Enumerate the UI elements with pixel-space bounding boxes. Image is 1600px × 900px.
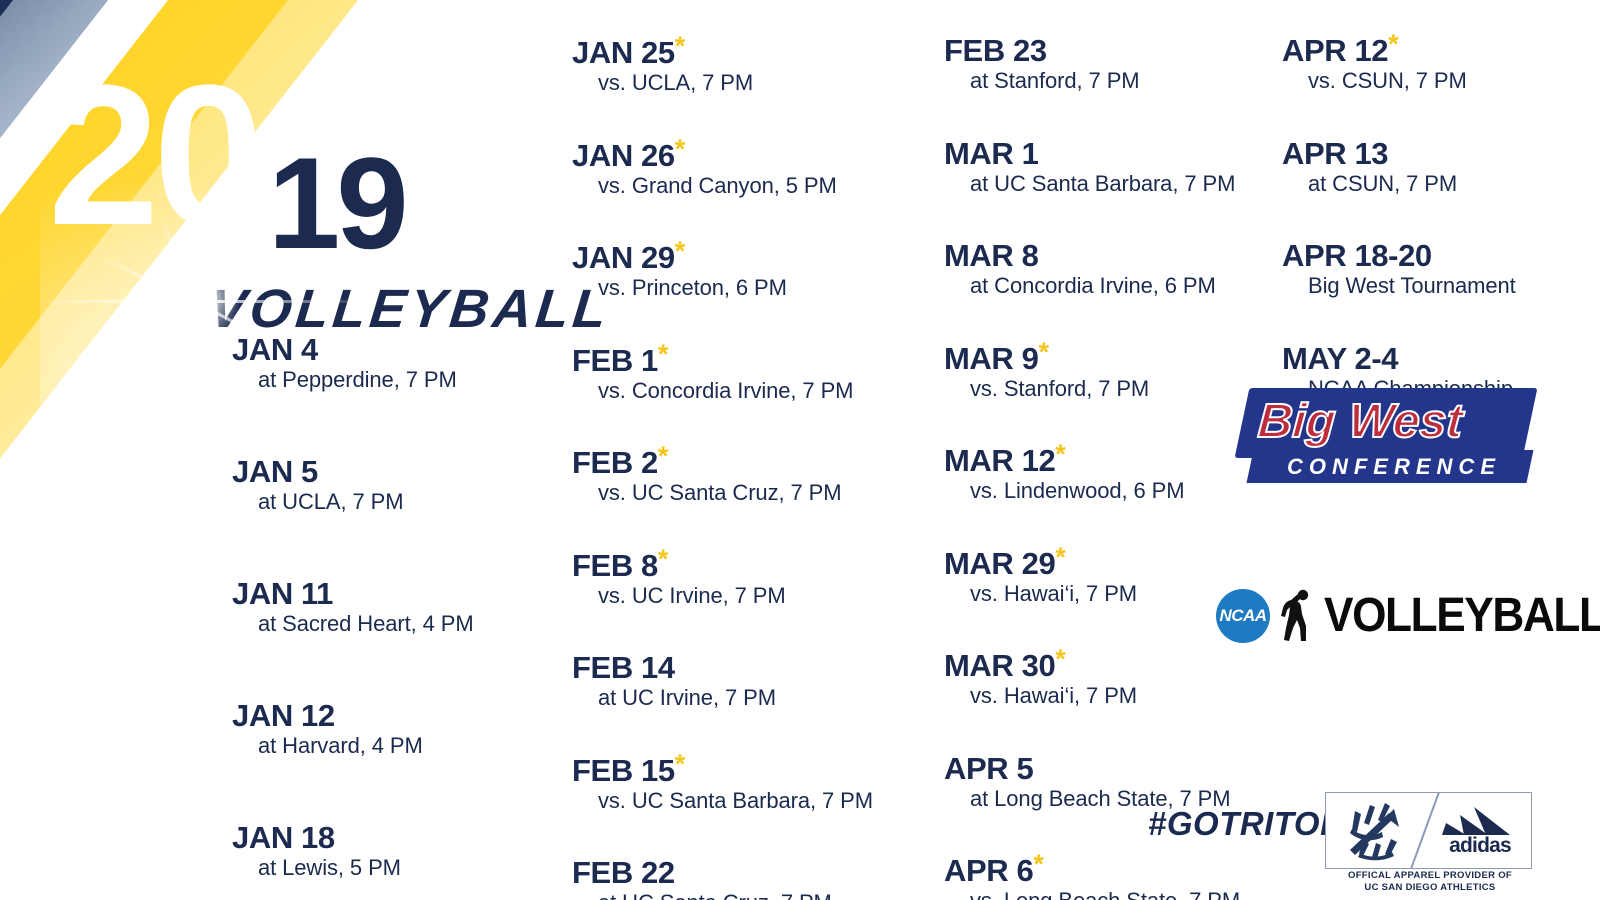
game-opponent: vs. Hawai‘i, 7 PM [944,581,1240,607]
year-light-text: 20 [48,56,258,256]
game-opponent: at UC Santa Barbara, 7 PM [944,171,1240,197]
game-date-text: FEB 1 [572,343,658,378]
game-date: JAN 26* [572,139,873,173]
game-date: FEB 1* [572,344,873,378]
schedule-entry: MAR 12*vs. Lindenwood, 6 PM [944,444,1240,504]
game-opponent: vs. Stanford, 7 PM [944,376,1240,402]
game-date: JAN 18 [232,821,495,855]
game-date-text: FEB 22 [572,855,675,890]
schedule-entry: MAR 1at UC Santa Barbara, 7 PM [944,137,1240,197]
big-west-logo-sub-text: CONFERENCE [1264,451,1524,483]
conference-game-asterisk-icon: * [675,133,685,163]
game-date: FEB 2* [572,446,873,480]
schedule-entry: MAR 8at Concordia Irvine, 6 PM [944,239,1240,299]
game-date: APR 13 [1282,137,1516,171]
game-opponent: Big West Tournament [1282,273,1516,299]
schedule-entry: APR 13at CSUN, 7 PM [1282,137,1516,197]
schedule-entry: MAR 9*vs. Stanford, 7 PM [944,342,1240,402]
game-date-text: JAN 12 [232,698,335,733]
game-opponent: at UCLA, 7 PM [232,489,495,515]
game-date: APR 5 [944,752,1240,786]
conference-game-asterisk-icon: * [1033,849,1043,879]
schedule-entry: APR 5at Long Beach State, 7 PM [944,752,1240,812]
game-date: MAY 2-4 [1282,342,1516,376]
big-west-conference-logo: Big West CONFERENCE [1242,388,1530,488]
schedule-entry: APR 18-20Big West Tournament [1282,239,1516,299]
schedule-entry: MAR 30*vs. Hawai‘i, 7 PM [944,649,1240,709]
game-opponent: vs. Long Beach State, 7 PM [944,888,1240,900]
game-date-text: JAN 18 [232,820,335,855]
schedule-entry: JAN 26*vs. Grand Canyon, 5 PM [572,139,873,199]
game-date: FEB 23 [944,34,1240,68]
adidas-wordmark: adidas [1436,835,1524,857]
adidas-three-bars-icon [1438,803,1518,837]
game-date: MAR 1 [944,137,1240,171]
schedule-entry: FEB 8*vs. UC Irvine, 7 PM [572,549,873,609]
game-date: JAN 5 [232,455,495,489]
schedule-entry: APR 12*vs. CSUN, 7 PM [1282,34,1516,94]
big-west-logo-main-text: Big West [1256,394,1530,450]
game-date: JAN 29* [572,241,873,275]
schedule-poster: 20 19 VOLLEYBALL JAN 4at Pepperdine, 7 P… [0,0,1600,900]
adidas-partner-logo: adidas [1325,792,1532,869]
uc-san-diego-trident-icon [1342,801,1408,861]
schedule-entry: FEB 15*vs. UC Santa Barbara, 7 PM [572,754,873,814]
game-date: APR 18-20 [1282,239,1516,273]
schedule-entry: FEB 23at Stanford, 7 PM [944,34,1240,94]
game-date-text: MAR 1 [944,136,1038,171]
schedule-entry: JAN 25*vs. UCLA, 7 PM [572,36,873,96]
game-date: JAN 25* [572,36,873,70]
game-date-text: JAN 29 [572,240,675,275]
game-opponent: at CSUN, 7 PM [1282,171,1516,197]
game-opponent: vs. Concordia Irvine, 7 PM [572,378,873,404]
schedule-entry: FEB 22at UC Santa Cruz, 7 PM [572,856,873,900]
game-date-text: FEB 14 [572,650,675,685]
year-wordmark: 20 19 VOLLEYBALL [40,60,560,300]
game-opponent: vs. Princeton, 6 PM [572,275,873,301]
game-opponent: at UC Irvine, 7 PM [572,685,873,711]
conference-game-asterisk-icon: * [675,748,685,778]
volleyball-player-icon [1272,588,1320,644]
game-date-text: MAR 29 [944,546,1055,581]
conference-game-asterisk-icon: * [658,543,668,573]
game-date-text: MAR 30 [944,648,1055,683]
schedule-entry: FEB 14at UC Irvine, 7 PM [572,651,873,711]
game-date: APR 6* [944,854,1240,888]
schedule-entry: FEB 2*vs. UC Santa Cruz, 7 PM [572,446,873,506]
game-date-text: FEB 15 [572,753,675,788]
game-date-text: FEB 23 [944,33,1047,68]
game-date: MAR 8 [944,239,1240,273]
game-date-text: APR 13 [1282,136,1388,171]
schedule-entry: JAN 11at Sacred Heart, 4 PM [232,577,495,637]
game-date-text: JAN 5 [232,454,318,489]
game-date: APR 12* [1282,34,1516,68]
conference-game-asterisk-icon: * [1388,29,1398,59]
game-date-text: MAR 12 [944,443,1055,478]
game-date-text: APR 12 [1282,33,1388,68]
game-date: MAR 30* [944,649,1240,683]
conference-game-asterisk-icon: * [1055,541,1065,571]
game-date: JAN 4 [232,333,495,367]
conference-game-asterisk-icon: * [658,441,668,471]
ncaa-mark-text: NCAA [1219,606,1266,626]
game-opponent: at Pepperdine, 7 PM [232,367,495,393]
game-opponent: at Stanford, 7 PM [944,68,1240,94]
schedule-entry: JAN 4at Pepperdine, 7 PM [232,333,495,393]
game-date-text: JAN 25 [572,35,675,70]
game-opponent: at Lewis, 5 PM [232,855,495,881]
game-date: JAN 11 [232,577,495,611]
game-date: JAN 12 [232,699,495,733]
conference-game-asterisk-icon: * [1055,439,1065,469]
schedule-entry: JAN 29*vs. Princeton, 6 PM [572,241,873,301]
conference-game-asterisk-icon: * [1038,336,1048,366]
game-date: FEB 15* [572,754,873,788]
game-opponent: vs. Hawai‘i, 7 PM [944,683,1240,709]
game-opponent: vs. UC Santa Cruz, 7 PM [572,480,873,506]
ncaa-volleyball-logo: NCAA VOLLEYBALL [1216,585,1600,647]
game-opponent: vs. Grand Canyon, 5 PM [572,173,873,199]
game-date: FEB 8* [572,549,873,583]
schedule-entry: JAN 5at UCLA, 7 PM [232,455,495,515]
game-opponent: vs. Lindenwood, 6 PM [944,478,1240,504]
schedule-entry: JAN 18at Lewis, 5 PM [232,821,495,881]
game-date-text: JAN 11 [232,576,333,611]
game-date: FEB 22 [572,856,873,890]
game-date: MAR 12* [944,444,1240,478]
game-date-text: JAN 26 [572,138,675,173]
game-date-text: APR 5 [944,751,1033,786]
schedule-column-3: FEB 23at Stanford, 7 PMMAR 1at UC Santa … [944,34,1240,900]
game-date-text: MAR 8 [944,238,1038,273]
game-date: MAR 29* [944,547,1240,581]
game-date-text: JAN 4 [232,332,318,367]
adidas-provider-note: OFFICAL APPAREL PROVIDER OFUC SAN DIEGO … [1325,870,1535,894]
game-opponent: at Concordia Irvine, 6 PM [944,273,1240,299]
schedule-entry: APR 6*vs. Long Beach State, 7 PM [944,854,1240,900]
game-opponent: at Harvard, 4 PM [232,733,495,759]
game-date: FEB 14 [572,651,873,685]
game-date-text: FEB 2 [572,445,658,480]
conference-game-asterisk-icon: * [1055,644,1065,674]
game-date-text: MAY 2-4 [1282,341,1398,376]
schedule-column-1: JAN 4at Pepperdine, 7 PMJAN 5at UCLA, 7 … [232,333,495,900]
game-opponent: at UC Santa Cruz, 7 PM [572,890,873,900]
game-opponent: vs. CSUN, 7 PM [1282,68,1516,94]
year-dark-text: 19 [268,138,405,268]
game-date-text: FEB 8 [572,548,658,583]
game-date-text: APR 18-20 [1282,238,1432,273]
ncaa-volleyball-word: VOLLEYBALL [1324,591,1600,641]
conference-game-asterisk-icon: * [658,338,668,368]
conference-game-asterisk-icon: * [675,31,685,61]
schedule-entry: MAR 29*vs. Hawai‘i, 7 PM [944,547,1240,607]
game-date-text: APR 6 [944,853,1033,888]
schedule-entry: JAN 12at Harvard, 4 PM [232,699,495,759]
ncaa-disc-icon: NCAA [1216,589,1270,643]
game-opponent: vs. UC Santa Barbara, 7 PM [572,788,873,814]
schedule-column-4: APR 12*vs. CSUN, 7 PMAPR 13at CSUN, 7 PM… [1282,34,1516,444]
game-opponent: at Sacred Heart, 4 PM [232,611,495,637]
sport-wordmark: VOLLEYBALL [207,278,614,340]
game-opponent: vs. UCLA, 7 PM [572,70,873,96]
game-opponent: vs. UC Irvine, 7 PM [572,583,873,609]
schedule-column-2: JAN 25*vs. UCLA, 7 PMJAN 26*vs. Grand Ca… [572,36,873,900]
game-date: MAR 9* [944,342,1240,376]
conference-game-asterisk-icon: * [675,236,685,266]
schedule-entry: FEB 1*vs. Concordia Irvine, 7 PM [572,344,873,404]
game-date-text: MAR 9 [944,341,1038,376]
